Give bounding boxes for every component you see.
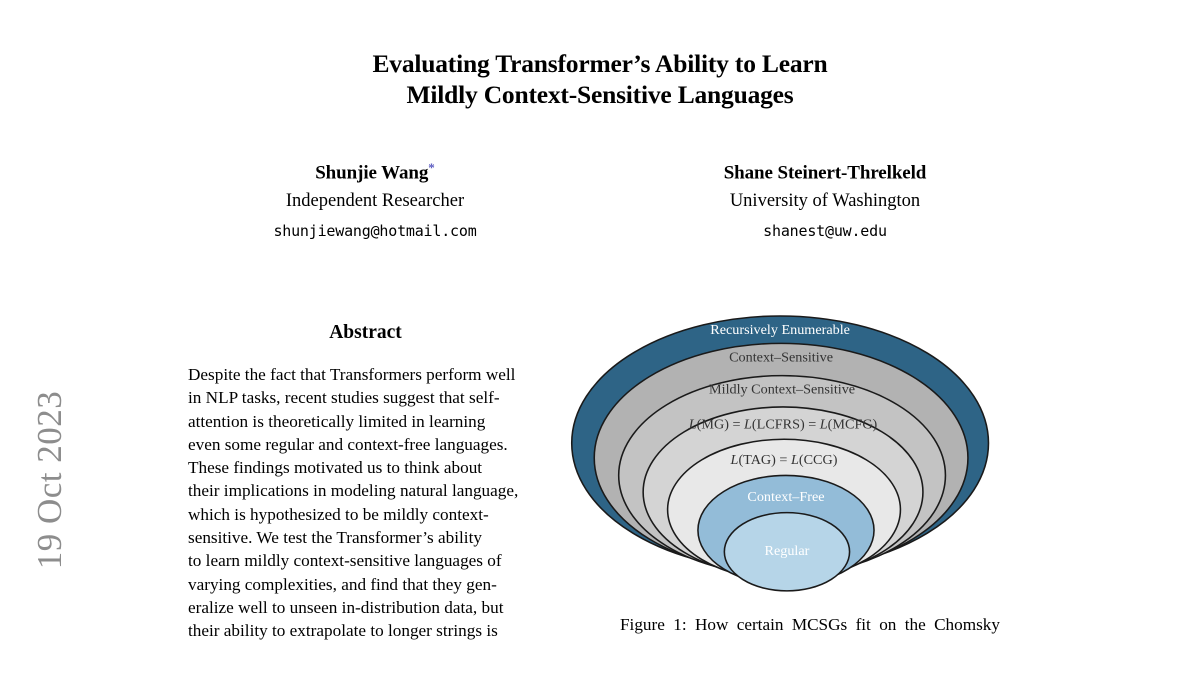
label-part: L bbox=[790, 452, 799, 468]
page-title: Evaluating Transformer’s Ability to Lear… bbox=[170, 48, 1030, 110]
abstract-line: sensitive. We test the Transformer’s abi… bbox=[188, 526, 543, 549]
abstract-line: their implications in modeling natural l… bbox=[188, 479, 543, 502]
author-name: Shane Steinert-Threlkeld bbox=[724, 162, 927, 183]
caption-word: fit bbox=[856, 613, 871, 636]
label-part: L bbox=[730, 452, 739, 468]
abstract-line: in NLP tasks, recent studies suggest tha… bbox=[188, 386, 543, 409]
label-part: (LCFRS) = bbox=[752, 417, 820, 433]
figure-1: Recursively EnumerableContext–SensitiveM… bbox=[560, 300, 1020, 600]
caption-word: certain bbox=[737, 613, 784, 636]
author-email[interactable]: shanest@uw.edu bbox=[600, 219, 1050, 244]
label-part: L bbox=[743, 417, 752, 433]
ellipse-label-mg-lcfrs-mcfg: L(MG) = L(LCFRS) = L(MCFG) bbox=[688, 417, 878, 433]
figure-caption: Figure 1: How certain MCSGs fit on the C… bbox=[620, 613, 1000, 636]
ellipse-label-regular: Regular bbox=[765, 543, 810, 559]
ellipse-label-context-sensitive: Context–Sensitive bbox=[729, 349, 833, 365]
abstract-line: their ability to extrapolate to longer s… bbox=[188, 619, 543, 642]
label-part: (CCG) bbox=[799, 452, 838, 468]
author-email[interactable]: shunjiewang@hotmail.com bbox=[150, 219, 600, 244]
caption-word: the bbox=[905, 613, 926, 636]
label-part: (TAG) = bbox=[738, 452, 791, 468]
figure-caption-line: Figure 1: How certain MCSGs fit on the C… bbox=[620, 613, 1000, 636]
abstract-line: Despite the fact that Transformers perfo… bbox=[188, 363, 543, 386]
label-part: L bbox=[688, 417, 697, 433]
abstract-section: Abstract Despite the fact that Transform… bbox=[188, 322, 543, 643]
arxiv-date-stamp: 19 Oct 2023 bbox=[0, 0, 72, 648]
abstract-line: attention is theoretically limited in le… bbox=[188, 410, 543, 433]
author-entry-1: Shunjie Wang* Independent Researcher shu… bbox=[150, 155, 600, 244]
label-part: (MG) = bbox=[697, 417, 744, 433]
chomsky-hierarchy-diagram: Recursively EnumerableContext–SensitiveM… bbox=[560, 300, 1010, 600]
author-footnote-marker[interactable]: * bbox=[428, 160, 435, 175]
abstract-line: varying complexities, and find that they… bbox=[188, 573, 543, 596]
abstract-heading: Abstract bbox=[188, 322, 543, 344]
author-affiliation: University of Washington bbox=[600, 189, 1050, 214]
label-part: (MCFG) bbox=[828, 417, 878, 433]
abstract-line: even some regular and context-free langu… bbox=[188, 433, 543, 456]
author-name: Shunjie Wang bbox=[315, 162, 428, 183]
hierarchy-svg: Recursively EnumerableContext–SensitiveM… bbox=[560, 300, 1010, 600]
page-title-line-2: Mildly Context-Sensitive Languages bbox=[170, 79, 1030, 110]
ellipse-label-context-free: Context–Free bbox=[747, 489, 824, 505]
ellipse-label-mildly-context-sensitive: Mildly Context–Sensitive bbox=[709, 382, 855, 398]
author-affiliation: Independent Researcher bbox=[150, 189, 600, 214]
caption-word: MCSGs bbox=[792, 613, 847, 636]
caption-word: on bbox=[879, 613, 896, 636]
page-title-line-1: Evaluating Transformer’s Ability to Lear… bbox=[170, 48, 1030, 79]
caption-word: 1: bbox=[673, 613, 686, 636]
abstract-line: which is hypothesized to be mildly conte… bbox=[188, 503, 543, 526]
abstract-body: Despite the fact that Transformers perfo… bbox=[188, 363, 543, 643]
author-entry-2: Shane Steinert-Threlkeld University of W… bbox=[600, 155, 1050, 244]
caption-word: Figure bbox=[620, 613, 665, 636]
abstract-line: eralize well to unseen in-distribution d… bbox=[188, 596, 543, 619]
arxiv-date-text: 19 Oct 2023 bbox=[30, 280, 70, 680]
label-part: L bbox=[819, 417, 828, 433]
author-block: Shunjie Wang* Independent Researcher shu… bbox=[150, 155, 1050, 244]
caption-word: How bbox=[695, 613, 728, 636]
abstract-line: These findings motivated us to think abo… bbox=[188, 456, 543, 479]
ellipse-label-recursively-enumerable: Recursively Enumerable bbox=[710, 322, 850, 338]
caption-word: Chomsky bbox=[934, 613, 1000, 636]
abstract-line: to learn mildly context-sensitive langua… bbox=[188, 549, 543, 572]
ellipse-label-tag-ccg: L(TAG) = L(CCG) bbox=[730, 452, 838, 468]
